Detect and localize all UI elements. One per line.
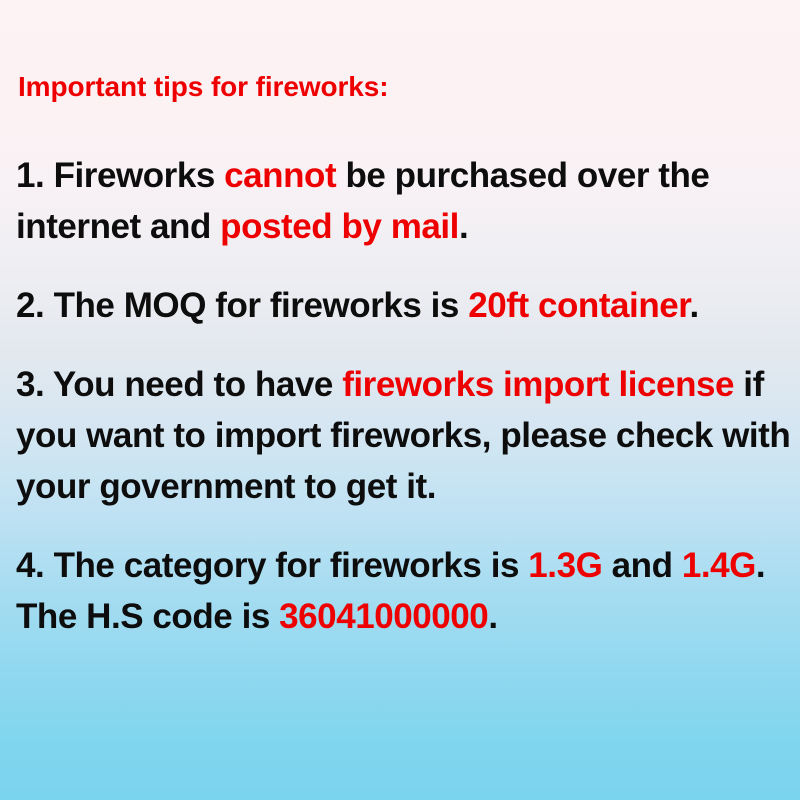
tip-item: 1. Fireworks cannot be purchased over th… (16, 150, 794, 252)
tip-text: . (690, 286, 699, 325)
tip-text: . (459, 207, 468, 246)
tip-text: 2. The MOQ for fireworks is (16, 286, 468, 325)
tip-highlight-text: 20ft container (468, 286, 689, 325)
tip-text: 3. You need to have (16, 365, 342, 404)
tip-highlight-text: 36041000000 (279, 597, 488, 636)
tip-text: 1. Fireworks (16, 156, 224, 195)
tip-text: 4. The category for fireworks is (16, 546, 528, 585)
tip-text: and (602, 546, 681, 585)
tip-item: 2. The MOQ for fireworks is 20ft contain… (16, 280, 794, 331)
tip-item: 3. You need to have fireworks import lic… (16, 359, 794, 512)
tip-highlight-text: posted by mail (220, 207, 459, 246)
tip-text: . (488, 597, 497, 636)
tips-list: 1. Fireworks cannot be purchased over th… (16, 150, 794, 642)
fireworks-tips-card: Important tips for fireworks: 1. Firewor… (0, 0, 800, 800)
page-title: Important tips for fireworks: (18, 70, 388, 104)
tip-highlight-text: 1.3G (528, 546, 602, 585)
tip-highlight-text: cannot (224, 156, 336, 195)
tip-item: 4. The category for fireworks is 1.3G an… (16, 540, 794, 642)
tip-highlight-text: 1.4G (682, 546, 756, 585)
tip-highlight-text: fireworks import license (342, 365, 734, 404)
